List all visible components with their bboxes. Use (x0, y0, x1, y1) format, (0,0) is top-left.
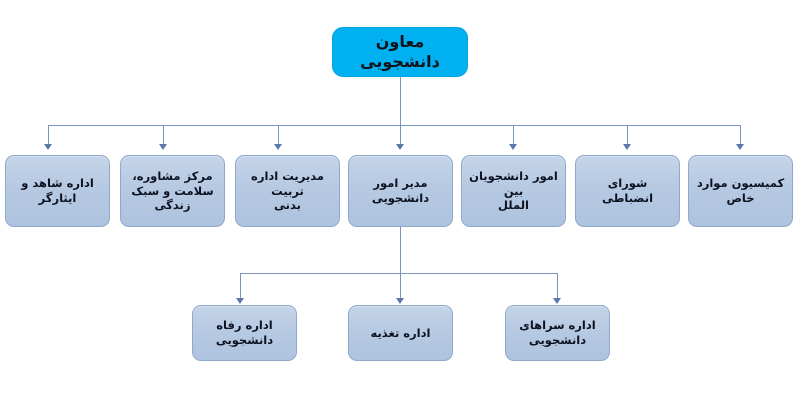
arrow-head-icon-4 (396, 144, 404, 150)
node-label: شورای انضباطی (576, 176, 679, 205)
connector-drop-6 (627, 125, 628, 145)
node-label: امور دانشجویان بین الملل (462, 169, 565, 213)
connector-level1-bus (48, 125, 741, 126)
node-label: مدیر امور دانشجویی (349, 176, 452, 205)
arrow-head-icon-5 (509, 144, 517, 150)
connector-drop-10 (557, 273, 558, 299)
node-student-dormitories-office[interactable]: اداره سراهای دانشجویی (505, 305, 610, 361)
node-label: کمیسیون موارد خاص (689, 176, 792, 205)
org-chart-canvas: معاون دانشجویی اداره شاهد و ایثارگر مرکز… (0, 0, 800, 400)
arrow-head-icon-1 (44, 144, 52, 150)
connector-drop-9 (400, 273, 401, 299)
connector-drop-5 (513, 125, 514, 145)
node-special-cases-commission[interactable]: کمیسیون موارد خاص (688, 155, 793, 227)
arrow-head-icon-7 (736, 144, 744, 150)
connector-drop-2 (163, 125, 164, 145)
arrow-head-icon-6 (623, 144, 631, 150)
connector-drop-4 (400, 125, 401, 145)
node-student-affairs-director[interactable]: مدیر امور دانشجویی (348, 155, 453, 227)
connector-root-stem (400, 77, 401, 125)
arrow-head-icon-3 (274, 144, 282, 150)
node-label: اداره تغذیه (349, 326, 452, 341)
arrow-head-icon-2 (159, 144, 167, 150)
node-root-student-vice-chancellor[interactable]: معاون دانشجویی (332, 27, 468, 77)
arrow-head-icon-8 (236, 298, 244, 304)
node-label: مدیریت اداره تربیت بدنی (236, 169, 339, 213)
node-label: اداره شاهد و ایثارگر (6, 176, 109, 205)
node-physical-education-management[interactable]: مدیریت اداره تربیت بدنی (235, 155, 340, 227)
node-student-welfare-office[interactable]: اداره رفاه دانشجویی (192, 305, 297, 361)
node-nutrition-office[interactable]: اداره تغذیه (348, 305, 453, 361)
arrow-head-icon-9 (396, 298, 404, 304)
node-international-students-affairs[interactable]: امور دانشجویان بین الملل (461, 155, 566, 227)
node-root-label: معاون دانشجویی (333, 32, 467, 73)
connector-drop-3 (278, 125, 279, 145)
node-shahed-ithargar[interactable]: اداره شاهد و ایثارگر (5, 155, 110, 227)
arrow-head-icon-10 (553, 298, 561, 304)
connector-drop-1 (48, 125, 49, 145)
connector-level2-bus (240, 273, 558, 274)
connector-director-stem (400, 227, 401, 273)
node-label: مرکز مشاوره، سلامت و سبک زندگی (121, 169, 224, 213)
connector-drop-8 (240, 273, 241, 299)
node-disciplinary-council[interactable]: شورای انضباطی (575, 155, 680, 227)
node-label: اداره رفاه دانشجویی (193, 318, 296, 347)
node-counseling-health-lifestyle-center[interactable]: مرکز مشاوره، سلامت و سبک زندگی (120, 155, 225, 227)
connector-drop-7 (740, 125, 741, 145)
node-label: اداره سراهای دانشجویی (506, 318, 609, 347)
